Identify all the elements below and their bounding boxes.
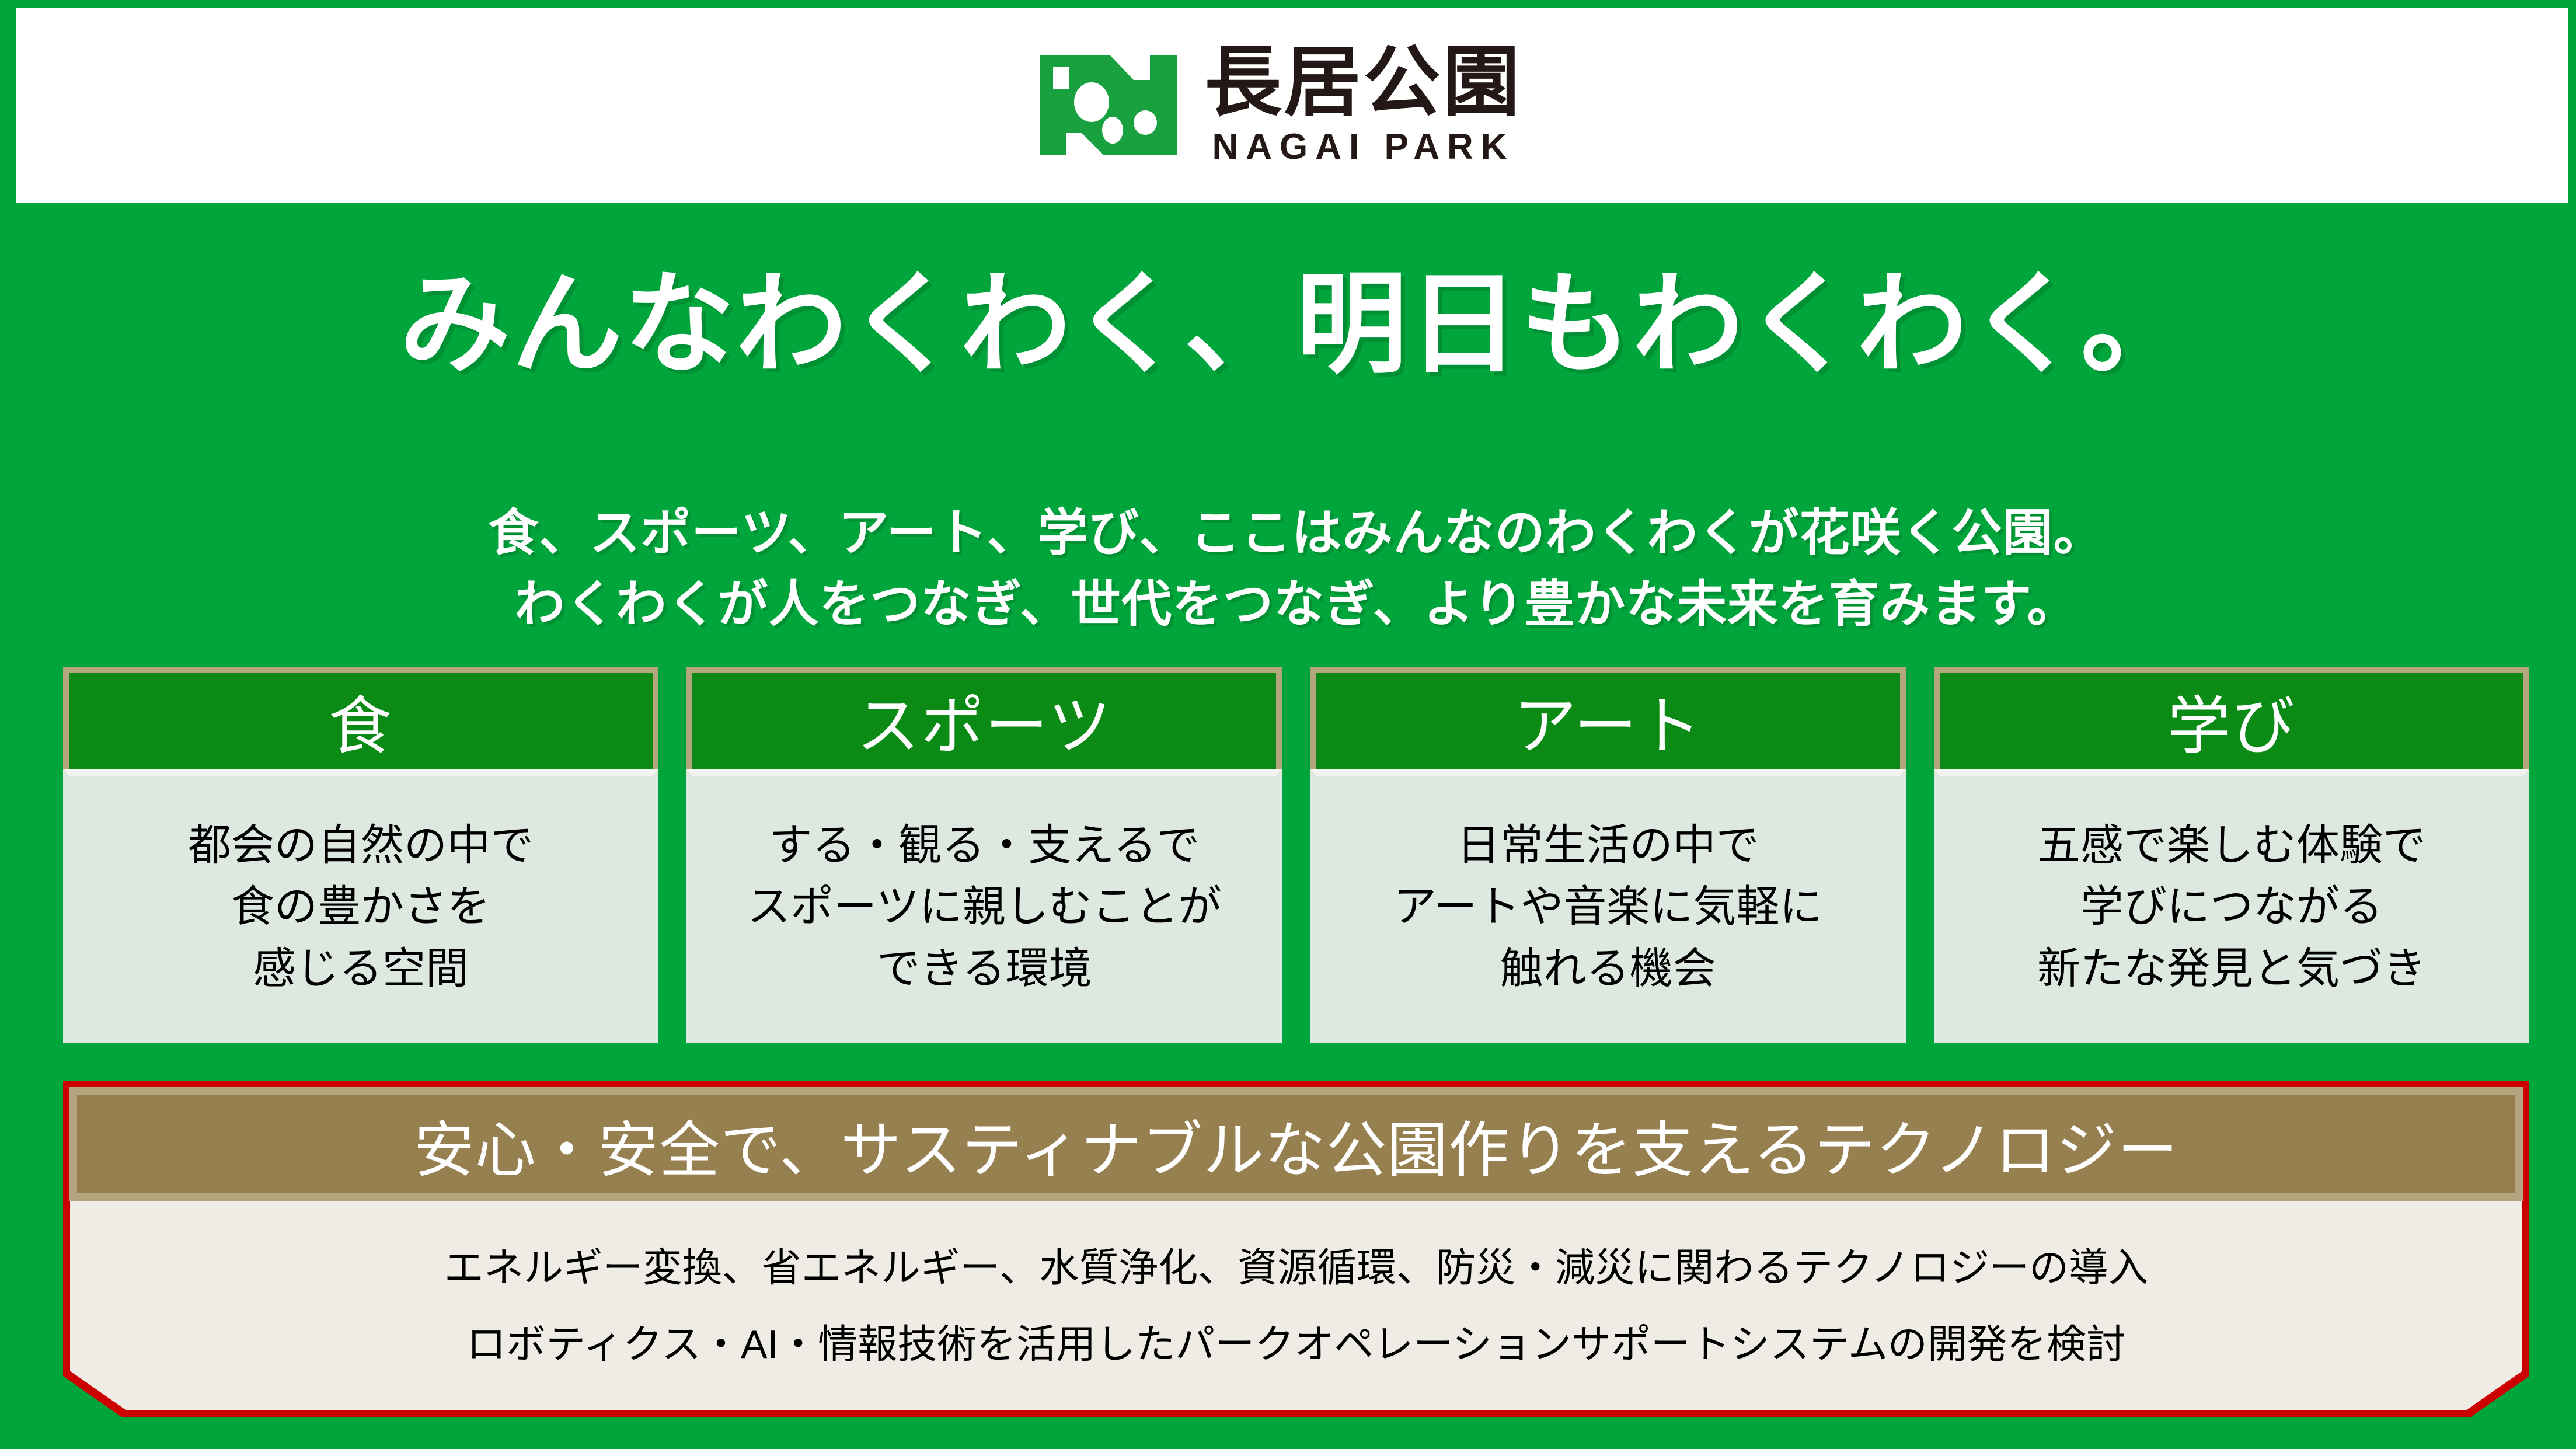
concept-card-sports[interactable]: スポーツ する・観る・支えるで スポーツに親しむことが できる環境 [686,667,1282,1043]
card-line-1: する・観る・支えるで [769,814,1200,876]
card-line-1: 都会の自然の中で [188,814,534,876]
subtitle-line-1: 食、スポーツ、アート、学び、ここはみんなのわくわくが花咲く公園。 [16,497,2576,569]
card-line-3: 感じる空間 [253,938,469,999]
main-body: みんなわくわく、明日もわくわく。 食、スポーツ、アート、学び、ここはみんなのわく… [16,203,2576,1449]
concept-card-learning[interactable]: 学び 五感で楽しむ体験で 学びにつながる 新たな発見と気づき [1934,667,2529,1043]
card-line-2: 食の豊かさを [231,876,490,937]
subtitle-line-2: わくわくが人をつなぎ、世代をつなぎ、より豊かな未来を育みます。 [16,569,2576,640]
technology-banner-body: エネルギー変換、省エネルギー、水質浄化、資源循環、防災・減災に関わるテクノロジー… [69,1201,2523,1411]
card-description: 都会の自然の中で 食の豊かさを 感じる空間 [63,769,658,1043]
card-description: する・観る・支えるで スポーツに親しむことが できる環境 [686,769,1282,1043]
nagai-park-logo-icon [1036,44,1181,166]
technology-banner-title: 安心・安全で、サスティナブルな公園作りを支えるテクノロジー [69,1087,2523,1201]
card-title: アート [1310,667,1906,769]
brand-name-en: NAGAI PARK [1212,126,1514,168]
card-line-3: できる環境 [877,938,1092,999]
poster-root: 長居公園 NAGAI PARK みんなわくわく、明日もわくわく。 食、スポーツ、… [0,0,2576,1449]
brand-text: 長居公園 NAGAI PARK [1205,43,1522,168]
technology-line-2: ロボティクス・AI・情報技術を活用したパークオペレーションサポートシステムの開発… [466,1320,2126,1370]
card-line-3: 新たな発見と気づき [2037,938,2426,999]
technology-banner[interactable]: 安心・安全で、サスティナブルな公園作りを支えるテクノロジー エネルギー変換、省エ… [63,1081,2529,1417]
card-title: スポーツ [686,667,1282,769]
page-header: 長居公園 NAGAI PARK [16,8,2576,203]
card-description: 五感で楽しむ体験で 学びにつながる 新たな発見と気づき [1934,769,2529,1043]
concept-card-food[interactable]: 食 都会の自然の中で 食の豊かさを 感じる空間 [63,667,658,1043]
concept-card-list: 食 都会の自然の中で 食の豊かさを 感じる空間 スポーツ する・観る・支えるで … [63,667,2529,1043]
card-title: 学び [1934,667,2529,769]
card-title: 食 [63,667,658,769]
card-line-2: アートや音楽に気軽に [1393,876,1823,937]
concept-card-art[interactable]: アート 日常生活の中で アートや音楽に気軽に 触れる機会 [1310,667,1906,1043]
technology-line-1: エネルギー変換、省エネルギー、水質浄化、資源循環、防災・減災に関わるテクノロジー… [444,1244,2148,1293]
card-line-2: スポーツに親しむことが [747,876,1222,937]
card-line-1: 日常生活の中で [1457,814,1759,876]
brand-name-jp: 長居公園 [1205,43,1522,122]
card-line-3: 触れる機会 [1500,938,1716,999]
page-subtitle: 食、スポーツ、アート、学び、ここはみんなのわくわくが花咲く公園。 わくわくが人を… [16,497,2576,640]
card-description: 日常生活の中で アートや音楽に気軽に 触れる機会 [1310,769,1906,1043]
page-title: みんなわくわく、明日もわくわく。 [16,264,2576,386]
brand-lockup: 長居公園 NAGAI PARK [1036,43,1522,168]
card-line-1: 五感で楽しむ体験で [2037,814,2426,876]
card-line-2: 学びにつながる [2080,876,2383,937]
technology-banner-content: 安心・安全で、サスティナブルな公園作りを支えるテクノロジー エネルギー変換、省エ… [69,1087,2523,1411]
